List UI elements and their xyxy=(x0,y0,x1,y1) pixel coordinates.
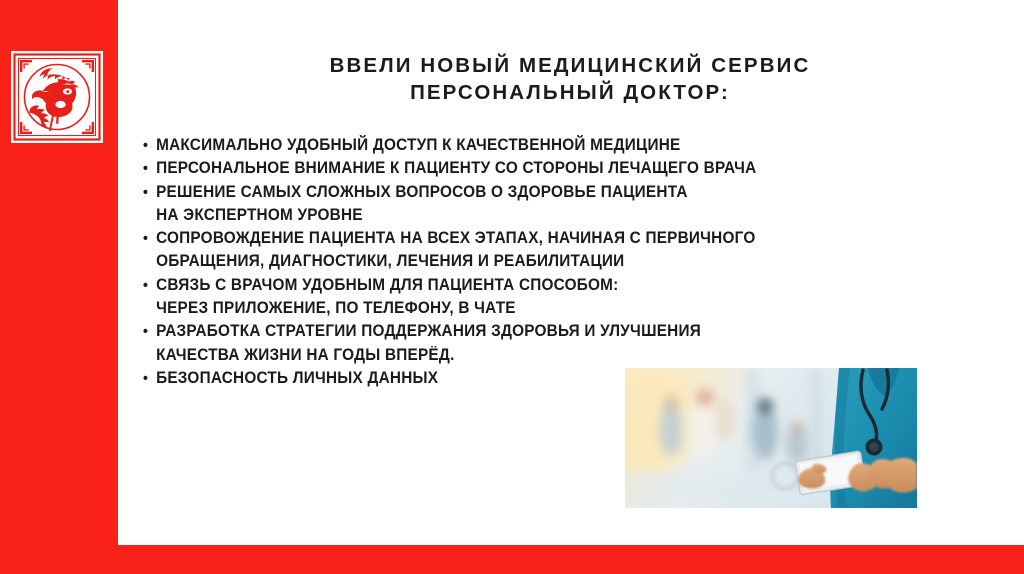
list-item: •НА ЭКСПЕРТНОМ УРОВНЕ xyxy=(143,204,961,227)
list-item: •КАЧЕСТВА ЖИЗНИ НА ГОДЫ ВПЕРЁД. xyxy=(143,344,961,367)
bullet-marker-icon: • xyxy=(143,320,156,343)
list-item-label: МАКСИМАЛЬНО УДОБНЫЙ ДОСТУП К КАЧЕСТВЕННО… xyxy=(156,136,680,154)
list-item: •ОБРАЩЕНИЯ, ДИАГНОСТИКИ, ЛЕЧЕНИЯ И РЕАБИ… xyxy=(143,250,961,273)
bottom-red-bar xyxy=(0,545,1024,574)
list-item-label: ОБРАЩЕНИЯ, ДИАГНОСТИКИ, ЛЕЧЕНИЯ И РЕАБИЛ… xyxy=(156,252,624,270)
list-item-label: ЧЕРЕЗ ПРИЛОЖЕНИЕ, ПО ТЕЛЕФОНУ, В ЧАТЕ xyxy=(156,299,516,317)
list-item: •РАЗРАБОТКА СТРАТЕГИИ ПОДДЕРЖАНИЯ ЗДОРОВ… xyxy=(143,320,961,343)
bullet-marker-icon: • xyxy=(143,274,156,297)
slide-canvas: ВВЕЛИ НОВЫЙ МЕДИЦИНСКИЙ СЕРВИС ПЕРСОНАЛЬ… xyxy=(0,0,1024,574)
bearded-man-emblem-icon xyxy=(11,51,103,143)
bullet-marker-icon: • xyxy=(143,181,156,204)
list-item-label: ПЕРСОНАЛЬНОЕ ВНИМАНИЕ К ПАЦИЕНТУ СО СТОР… xyxy=(156,159,756,177)
list-item: •СОПРОВОЖДЕНИЕ ПАЦИЕНТА НА ВСЕХ ЭТАПАХ, … xyxy=(143,227,961,250)
list-item: •МАКСИМАЛЬНО УДОБНЫЙ ДОСТУП К КАЧЕСТВЕНН… xyxy=(143,134,961,157)
page-title: ВВЕЛИ НОВЫЙ МЕДИЦИНСКИЙ СЕРВИС ПЕРСОНАЛЬ… xyxy=(140,52,1000,106)
list-item-label: РЕШЕНИЕ САМЫХ СЛОЖНЫХ ВОПРОСОВ О ЗДОРОВЬ… xyxy=(156,183,688,201)
bullet-marker-icon: • xyxy=(143,227,156,250)
bullet-marker-icon: • xyxy=(143,134,156,157)
list-item-label: НА ЭКСПЕРТНОМ УРОВНЕ xyxy=(156,206,363,224)
list-item-label: СВЯЗЬ С ВРАЧОМ УДОБНЫМ ДЛЯ ПАЦИЕНТА СПОС… xyxy=(156,276,618,294)
title-line-1: ВВЕЛИ НОВЫЙ МЕДИЦИНСКИЙ СЕРВИС xyxy=(140,52,1000,79)
list-item: •СВЯЗЬ С ВРАЧОМ УДОБНЫМ ДЛЯ ПАЦИЕНТА СПО… xyxy=(143,274,961,297)
list-item: •РЕШЕНИЕ САМЫХ СЛОЖНЫХ ВОПРОСОВ О ЗДОРОВ… xyxy=(143,181,961,204)
list-item-label: КАЧЕСТВА ЖИЗНИ НА ГОДЫ ВПЕРЁД. xyxy=(156,346,454,364)
doctor-photo-graphic xyxy=(625,368,917,508)
list-item-label: БЕЗОПАСНОСТЬ ЛИЧНЫХ ДАННЫХ xyxy=(156,369,438,387)
bullet-marker-icon: • xyxy=(143,367,156,390)
list-item-label: СОПРОВОЖДЕНИЕ ПАЦИЕНТА НА ВСЕХ ЭТАПАХ, Н… xyxy=(156,229,755,247)
bullet-marker-icon: • xyxy=(143,157,156,180)
list-item: •ЧЕРЕЗ ПРИЛОЖЕНИЕ, ПО ТЕЛЕФОНУ, В ЧАТЕ xyxy=(143,297,961,320)
list-item: •ПЕРСОНАЛЬНОЕ ВНИМАНИЕ К ПАЦИЕНТУ СО СТО… xyxy=(143,157,961,180)
title-line-2: ПЕРСОНАЛЬНЫЙ ДОКТОР: xyxy=(140,79,1000,106)
benefits-list: •МАКСИМАЛЬНО УДОБНЫЙ ДОСТУП К КАЧЕСТВЕНН… xyxy=(143,134,1018,390)
logo-emblem xyxy=(11,51,103,143)
doctor-with-tablet-photo xyxy=(625,368,917,508)
list-item-label: РАЗРАБОТКА СТРАТЕГИИ ПОДДЕРЖАНИЯ ЗДОРОВЬ… xyxy=(156,322,701,340)
